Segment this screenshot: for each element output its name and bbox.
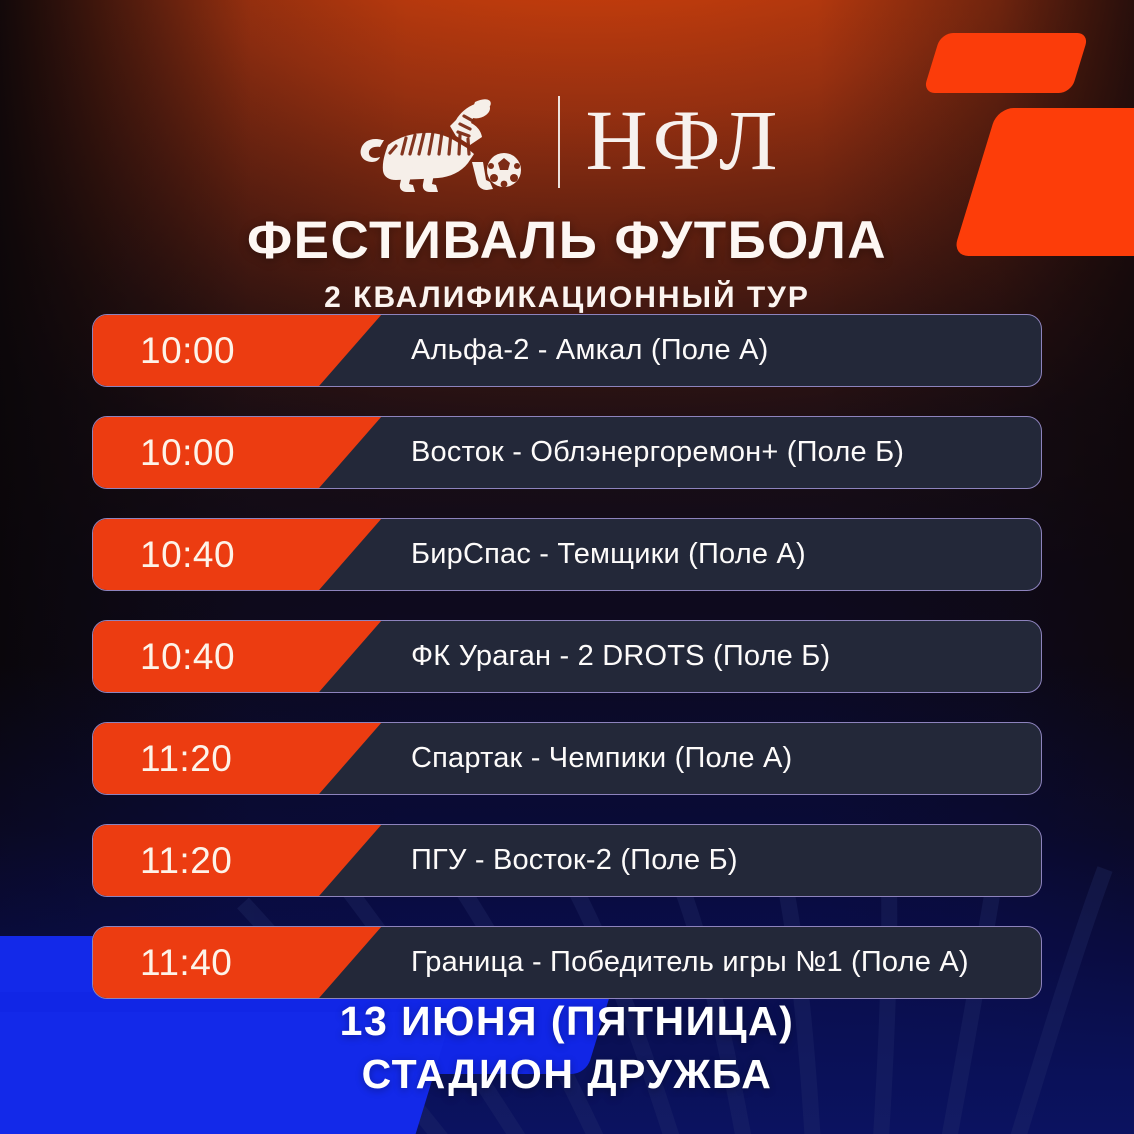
match-row[interactable]: 10:00 Восток - Облэнергоремон+ (Поле Б) — [92, 416, 1042, 489]
match-title: Граница - Победитель игры №1 (Поле А) — [411, 946, 969, 979]
vertical-divider-icon — [558, 96, 560, 188]
event-venue: СТАДИОН ДРУЖБА — [0, 1048, 1134, 1100]
match-time: 10:00 — [140, 434, 235, 471]
poster-header: НФЛ ФЕСТИВАЛЬ ФУТБОЛА 2 КВАЛИФИКАЦИОННЫЙ… — [0, 0, 1134, 315]
match-time-chip: 11:40 — [92, 926, 382, 999]
festival-title: ФЕСТИВАЛЬ ФУТБОЛА — [0, 210, 1134, 271]
logo-lockup: НФЛ — [0, 86, 1134, 198]
match-time: 11:20 — [140, 740, 232, 777]
event-date: 13 ИЮНЯ (ПЯТНИЦА) — [0, 995, 1134, 1047]
match-row[interactable]: 10:40 ФК Ураган - 2 DROTS (Поле Б) — [92, 620, 1042, 693]
match-time: 10:00 — [140, 332, 235, 369]
match-time: 10:40 — [140, 638, 235, 675]
match-time: 11:20 — [140, 842, 232, 879]
match-row[interactable]: 10:40 БирСпас - Темщики (Поле А) — [92, 518, 1042, 591]
tiger-with-football-icon — [352, 88, 532, 196]
match-time: 11:40 — [140, 944, 232, 981]
poster-root: НФЛ ФЕСТИВАЛЬ ФУТБОЛА 2 КВАЛИФИКАЦИОННЫЙ… — [0, 0, 1134, 1134]
match-time-chip: 10:40 — [92, 518, 382, 591]
match-time-chip: 10:40 — [92, 620, 382, 693]
poster-footer: 13 ИЮНЯ (ПЯТНИЦА) СТАДИОН ДРУЖБА — [0, 995, 1134, 1100]
match-time: 10:40 — [140, 536, 235, 573]
match-time-chip: 10:00 — [92, 416, 382, 489]
match-row[interactable]: 11:20 ПГУ - Восток-2 (Поле Б) — [92, 824, 1042, 897]
match-title: ПГУ - Восток-2 (Поле Б) — [411, 844, 738, 877]
match-title: Альфа-2 - Амкал (Поле А) — [411, 334, 769, 367]
match-row[interactable]: 11:20 Спартак - Чемпики (Поле А) — [92, 722, 1042, 795]
brand-letters: НФЛ — [586, 97, 783, 187]
round-title: 2 КВАЛИФИКАЦИОННЫЙ ТУР — [0, 281, 1134, 315]
match-time-chip: 10:00 — [92, 314, 382, 387]
match-title: ФК Ураган - 2 DROTS (Поле Б) — [411, 640, 830, 673]
match-time-chip: 11:20 — [92, 722, 382, 795]
match-row[interactable]: 11:40 Граница - Победитель игры №1 (Поле… — [92, 926, 1042, 999]
match-time-chip: 11:20 — [92, 824, 382, 897]
match-schedule-list: 10:00 Альфа-2 - Амкал (Поле А) 10:00 Вос… — [92, 314, 1042, 999]
match-title: Восток - Облэнергоремон+ (Поле Б) — [411, 436, 904, 469]
match-row[interactable]: 10:00 Альфа-2 - Амкал (Поле А) — [92, 314, 1042, 387]
match-title: БирСпас - Темщики (Поле А) — [411, 538, 806, 571]
football-icon — [487, 153, 521, 187]
match-title: Спартак - Чемпики (Поле А) — [411, 742, 792, 775]
